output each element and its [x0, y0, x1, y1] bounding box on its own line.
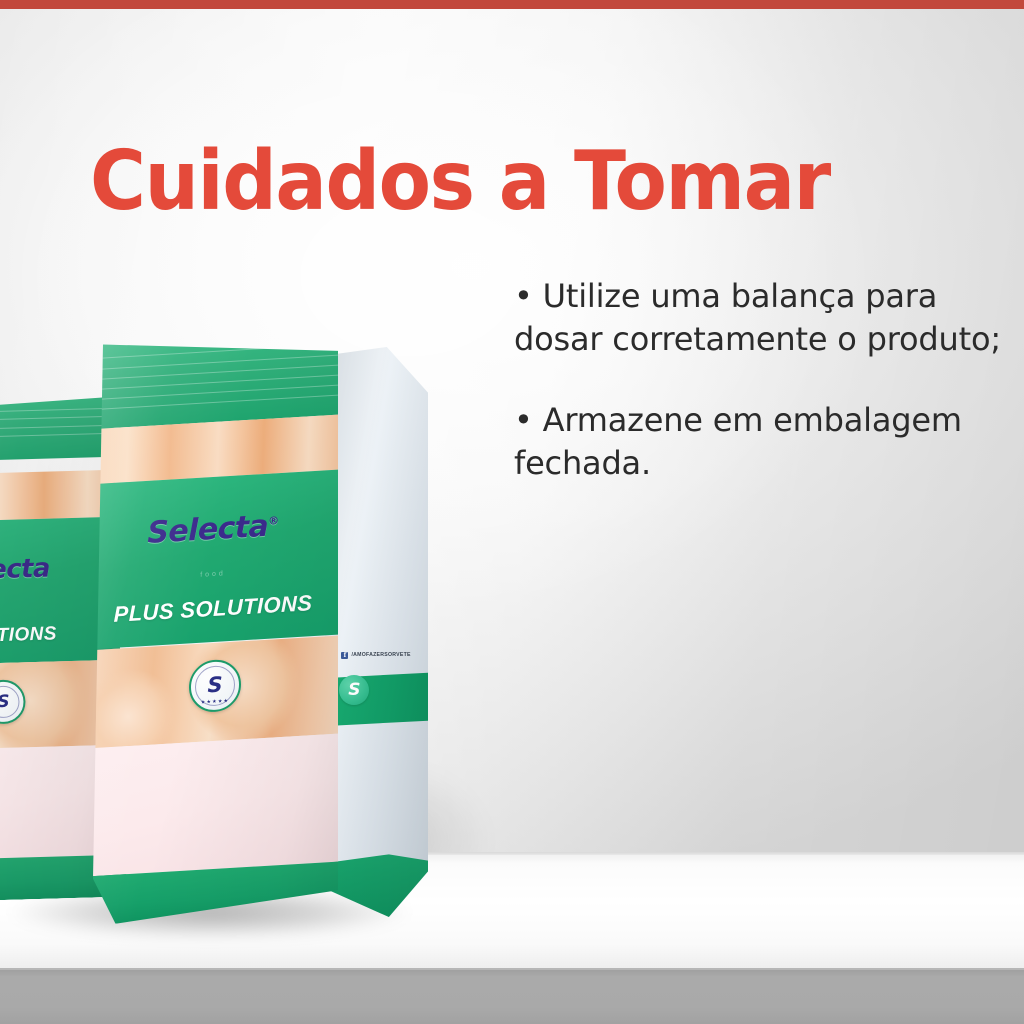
- bag-badge-stars: ★★★★★: [201, 698, 229, 706]
- bag-side-shading: [325, 347, 428, 917]
- bag-top-seal: [88, 331, 338, 430]
- table-front-edge: [0, 968, 1024, 1024]
- bag-front-face: Selecta® food PLUS SOLUTIONS S ★★★★★: [88, 331, 338, 926]
- bag-brand-name: Selecta: [147, 509, 268, 551]
- bag-brand-trademark: ®: [268, 514, 278, 528]
- bag-side-base: [325, 854, 428, 917]
- bag-pink-panel: [88, 734, 338, 876]
- facebook-icon: f: [341, 652, 348, 659]
- product-bag-front: f /AMOFAZERSORVETE S: [88, 330, 428, 920]
- bag-side-social-handle: /AMOFAZERSORVETE: [351, 652, 410, 658]
- badge-inner-ring: [0, 685, 20, 718]
- bag-side-logo-letter: S: [348, 682, 360, 699]
- top-accent-rule: [0, 0, 1024, 9]
- instructions-list: • Utilize uma balança para dosar correta…: [514, 275, 1006, 485]
- instruction-bullet-2: • Armazene em embalagem fechada.: [514, 399, 1006, 485]
- table-front-highlight: [0, 968, 1024, 970]
- slide-canvas: Selecta SOLUTIONS S f /AMOFAZERSORVETE S: [0, 0, 1024, 1024]
- bag-side-panel: f /AMOFAZERSORVETE S: [325, 347, 428, 917]
- instruction-bullet-1: • Utilize uma balança para dosar correta…: [514, 275, 1006, 361]
- bag-side-social-tag: f /AMOFAZERSORVETE: [341, 652, 410, 659]
- page-title: Cuidados a Tomar: [90, 141, 890, 223]
